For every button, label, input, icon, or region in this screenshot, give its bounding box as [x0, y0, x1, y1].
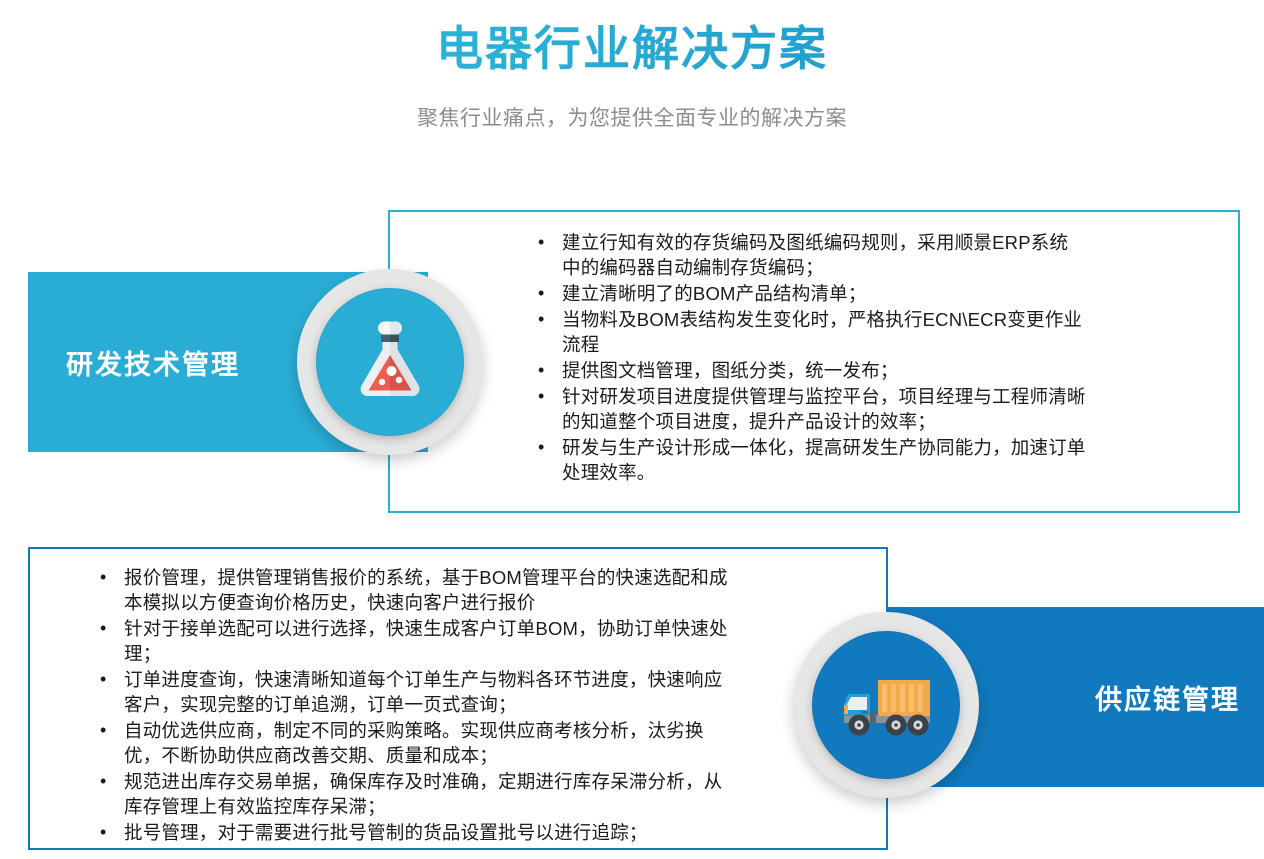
rd-tech-medallion [297, 269, 483, 455]
supply-chain-medallion [793, 612, 979, 798]
list-item: 批号管理，对于需要进行批号管制的货品设置批号以进行追踪； [88, 820, 738, 845]
rd-tech-text-box: 建立行知有效的存货编码及图纸编码规则，采用顺景ERP系统中的编码器自动编制存货编… [388, 210, 1240, 513]
list-item: 研发与生产设计形成一体化，提高研发生产协同能力，加速订单处理效率。 [526, 435, 1086, 485]
list-item: 报价管理，提供管理销售报价的系统，基于BOM管理平台的快速选配和成本模拟以方便查… [88, 565, 738, 615]
rd-tech-medallion-inner [316, 288, 464, 436]
supply-chain-medallion-inner [812, 631, 960, 779]
list-item: 针对于接单选配可以进行选择，快速生成客户订单BOM，协助订单快速处理； [88, 616, 738, 666]
list-item: 规范进出库存交易单据，确保库存及时准确，定期进行库存呆滞分析，从库存管理上有效监… [88, 769, 738, 819]
list-item: 订单进度查询，快速清晰知道每个订单生产与物料各环节进度，快速响应客户，实现完整的… [88, 667, 738, 717]
list-item: 针对研发项目进度提供管理与监控平台，项目经理与工程师清晰的知道整个项目进度，提升… [526, 384, 1086, 434]
truck-icon [838, 672, 934, 738]
page-subtitle: 聚焦行业痛点，为您提供全面专业的解决方案 [0, 102, 1264, 132]
list-item: 提供图文档管理，图纸分类，统一发布； [526, 358, 1086, 383]
flask-icon [353, 319, 427, 405]
rd-tech-label-text: 研发技术管理 [66, 343, 240, 382]
slide-canvas: 电器行业解决方案 聚焦行业痛点，为您提供全面专业的解决方案 建立行知有效的存货编… [0, 0, 1264, 859]
list-item: 自动优选供应商，制定不同的采购策略。实现供应商考核分析，汰劣换优，不断协助供应商… [88, 718, 738, 768]
supply-chain-label-text: 供应链管理 [1095, 678, 1240, 717]
page-title: 电器行业解决方案 [0, 22, 1264, 76]
list-item: 当物料及BOM表结构发生变化时，严格执行ECN\ECR变更作业流程 [526, 307, 1086, 357]
list-item: 建立行知有效的存货编码及图纸编码规则，采用顺景ERP系统中的编码器自动编制存货编… [526, 230, 1086, 280]
list-item: 建立清晰明了的BOM产品结构清单； [526, 281, 1086, 306]
rd-tech-bullet-list: 建立行知有效的存货编码及图纸编码规则，采用顺景ERP系统中的编码器自动编制存货编… [526, 230, 1086, 486]
supply-chain-bullet-list: 报价管理，提供管理销售报价的系统，基于BOM管理平台的快速选配和成本模拟以方便查… [88, 565, 738, 846]
supply-chain-text-box: 报价管理，提供管理销售报价的系统，基于BOM管理平台的快速选配和成本模拟以方便查… [28, 547, 888, 850]
